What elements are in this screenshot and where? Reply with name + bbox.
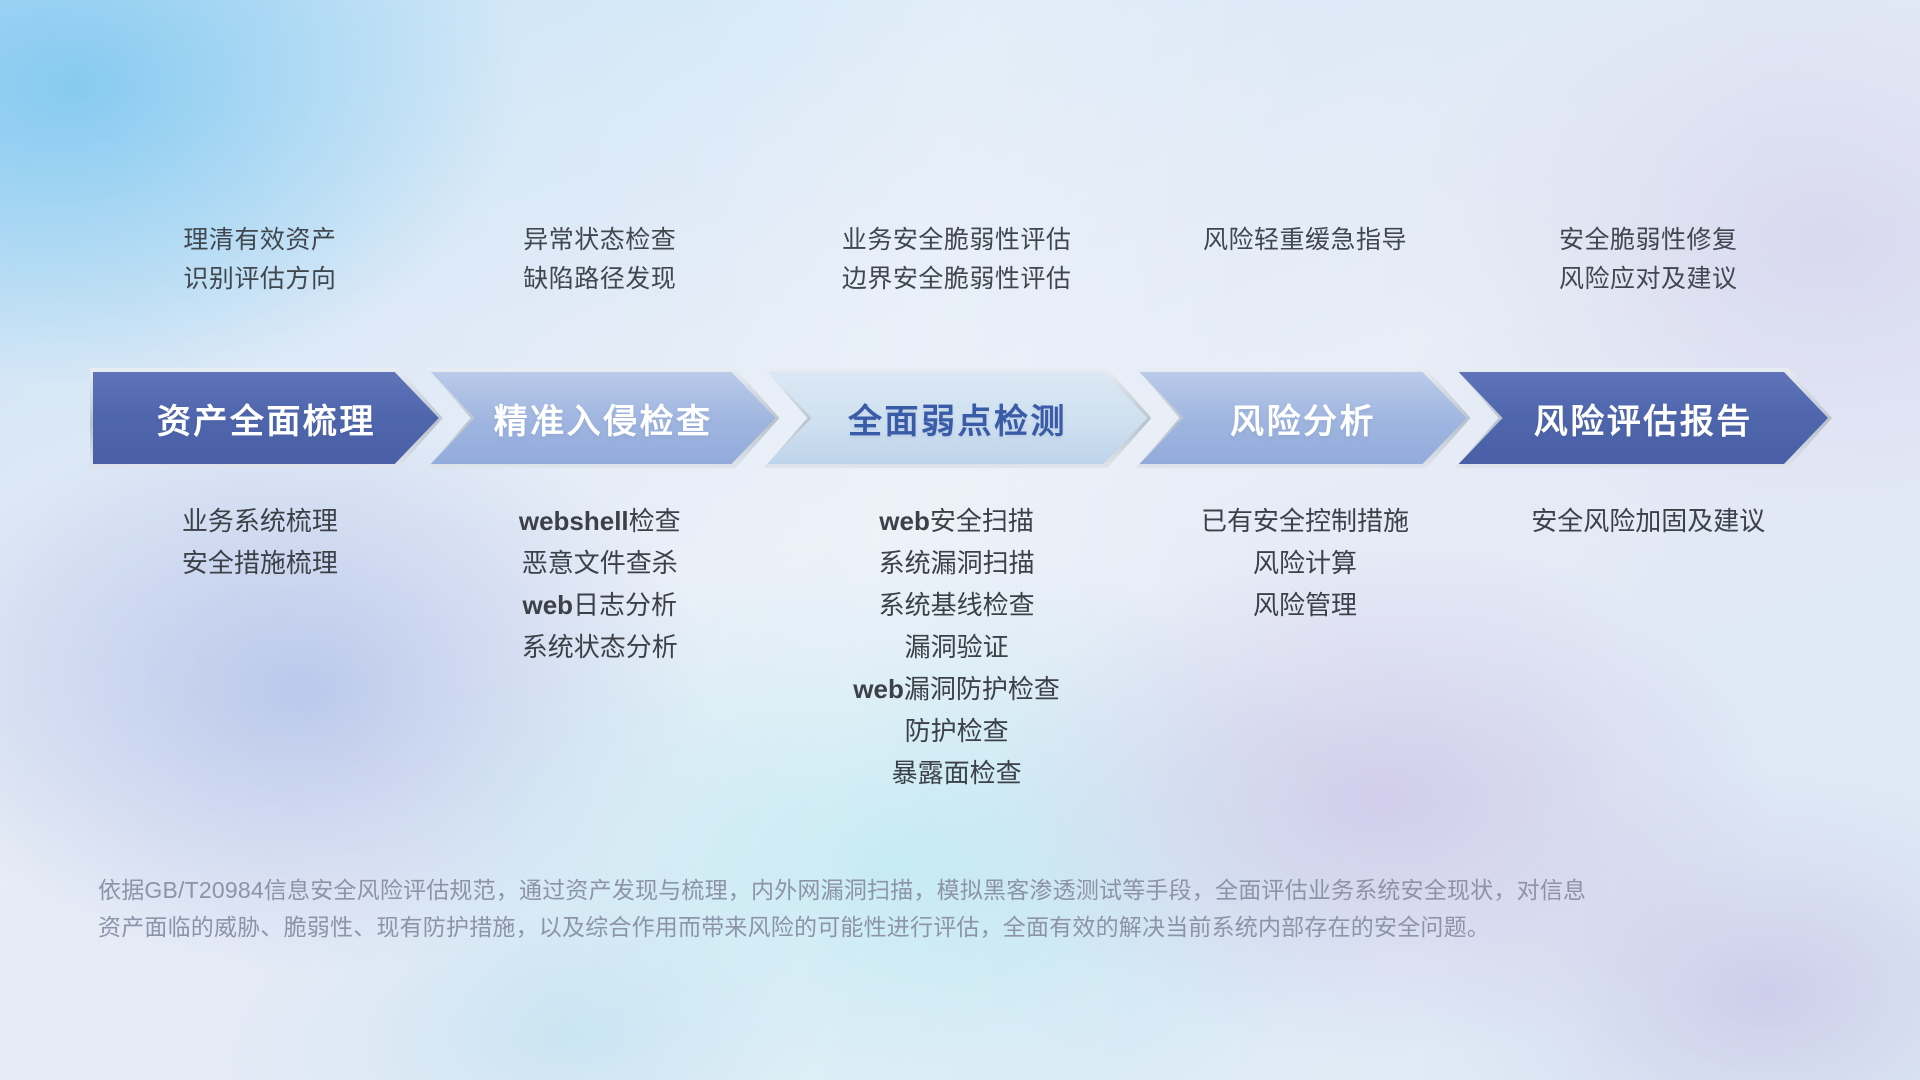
stage-items-intrusion-check: webshell检查恶意文件查杀web日志分析系统状态分析 (430, 508, 770, 786)
chevron-step-asset-inventory[interactable]: 资产全面梳理 (90, 368, 443, 468)
chevron-label: 风险分析 (1230, 394, 1376, 443)
stage-caption-asset-inventory: 理清有效资产识别评估方向 (90, 228, 430, 292)
chevron-step-weakness-detection[interactable]: 全面弱点检测 (763, 368, 1151, 468)
caption-line: 缺陷路径发现 (523, 267, 676, 292)
footer-line-2: 资产面临的威胁、脆弱性、现有防护措施，以及综合作用而带来风险的可能性进行评估，全… (98, 909, 1638, 946)
list-item-latin-prefix: web (522, 590, 573, 620)
list-item: 恶意文件查杀 (522, 550, 678, 576)
list-item: 安全风险加固及建议 (1531, 508, 1765, 534)
caption-line: 风险应对及建议 (1559, 267, 1738, 292)
chevron-step-assessment-report[interactable]: 风险评估报告 (1455, 368, 1832, 468)
list-item: 系统漏洞扫描 (879, 550, 1035, 576)
process-chevron-band: 资产全面梳理精准入侵检查全面弱点检测风险分析风险评估报告 (90, 368, 1832, 468)
chevron-label: 风险评估报告 (1534, 394, 1753, 443)
footer-description: 依据GB/T20984信息安全风险评估规范，通过资产发现与梳理，内外网漏洞扫描，… (98, 872, 1638, 947)
list-item: web日志分析 (522, 592, 677, 618)
list-item: web安全扫描 (879, 508, 1034, 534)
list-item: webshell检查 (519, 508, 681, 534)
slide-content: 理清有效资产识别评估方向异常状态检查缺陷路径发现业务安全脆弱性评估边界安全脆弱性… (0, 0, 1920, 1080)
list-item: web漏洞防护检查 (853, 676, 1060, 702)
caption-line: 边界安全脆弱性评估 (842, 267, 1072, 292)
stage-items-assessment-report: 安全风险加固及建议 (1466, 508, 1830, 786)
list-item: 安全措施梳理 (182, 550, 338, 576)
list-item: 系统基线检查 (879, 592, 1035, 618)
caption-line: 异常状态检查 (523, 228, 676, 253)
list-item: 暴露面检查 (892, 760, 1022, 786)
stage-caption-assessment-report: 安全脆弱性修复风险应对及建议 (1466, 228, 1830, 292)
chevron-step-intrusion-check[interactable]: 精准入侵检查 (427, 368, 780, 468)
list-item-latin-prefix: web (853, 674, 904, 704)
stage-caption-risk-analysis: 风险轻重缓急指导 (1144, 228, 1467, 292)
list-item-text: 安全扫描 (930, 506, 1034, 536)
caption-line: 理清有效资产 (183, 228, 336, 253)
stage-items-asset-inventory: 业务系统梳理安全措施梳理 (90, 508, 430, 786)
chevron-step-risk-analysis[interactable]: 风险分析 (1135, 368, 1470, 468)
footer-line-1: 依据GB/T20984信息安全风险评估规范，通过资产发现与梳理，内外网漏洞扫描，… (98, 872, 1638, 909)
chevron-label: 全面弱点检测 (848, 394, 1067, 443)
stage-captions-row: 理清有效资产识别评估方向异常状态检查缺陷路径发现业务安全脆弱性评估边界安全脆弱性… (90, 228, 1830, 292)
chevron-label: 精准入侵检查 (494, 394, 713, 443)
list-item: 漏洞验证 (905, 634, 1009, 660)
list-item: 风险计算 (1253, 550, 1357, 576)
list-item: 已有安全控制措施 (1201, 508, 1409, 534)
chevron-label: 资产全面梳理 (157, 394, 376, 443)
stage-caption-weakness-detection: 业务安全脆弱性评估边界安全脆弱性评估 (770, 228, 1144, 292)
list-item-latin-prefix: webshell (519, 506, 629, 536)
list-item-text: 日志分析 (573, 590, 677, 620)
stage-items-weakness-detection: web安全扫描系统漏洞扫描系统基线检查漏洞验证web漏洞防护检查防护检查暴露面检… (770, 508, 1144, 786)
stage-details-row: 业务系统梳理安全措施梳理webshell检查恶意文件查杀web日志分析系统状态分… (90, 508, 1830, 786)
caption-line: 识别评估方向 (183, 267, 336, 292)
list-item-text: 漏洞防护检查 (904, 674, 1060, 704)
list-item: 风险管理 (1253, 592, 1357, 618)
list-item-latin-prefix: web (879, 506, 930, 536)
list-item: 系统状态分析 (522, 634, 678, 660)
slide-canvas: 理清有效资产识别评估方向异常状态检查缺陷路径发现业务安全脆弱性评估边界安全脆弱性… (0, 0, 1920, 1080)
list-item-text: 检查 (629, 506, 681, 536)
caption-line: 风险轻重缓急指导 (1203, 228, 1407, 253)
caption-line: 安全脆弱性修复 (1559, 228, 1738, 253)
list-item: 业务系统梳理 (182, 508, 338, 534)
stage-items-risk-analysis: 已有安全控制措施风险计算风险管理 (1144, 508, 1467, 786)
list-item: 防护检查 (905, 718, 1009, 744)
caption-line: 业务安全脆弱性评估 (842, 228, 1072, 253)
stage-caption-intrusion-check: 异常状态检查缺陷路径发现 (430, 228, 770, 292)
